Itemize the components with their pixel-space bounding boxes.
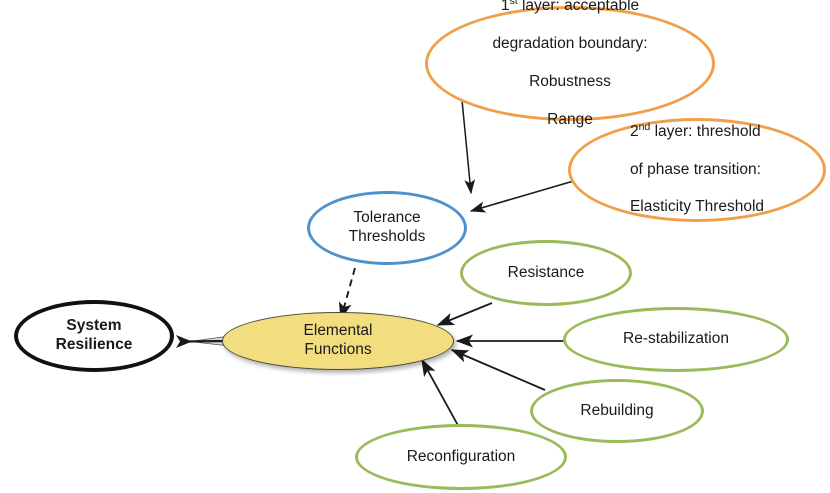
- diagram-canvas: Elemental Functions --> 1st layer: accep…: [0, 0, 830, 493]
- node-second-layer[interactable]: 2nd layer: threshold of phase transition…: [568, 118, 826, 222]
- node-rebuilding[interactable]: Rebuilding: [530, 379, 704, 443]
- second-layer-ordinal-suffix: nd: [639, 121, 651, 133]
- first-layer-line3: Robustness: [529, 73, 611, 90]
- first-layer-line1-rest: layer: acceptable: [518, 0, 640, 14]
- edge-layer1-to-tolerance: [462, 100, 471, 193]
- first-layer-line2: degradation boundary:: [492, 35, 647, 52]
- second-layer-line1-prefix: 2: [630, 123, 639, 140]
- node-tolerance-thresholds[interactable]: Tolerance Thresholds: [307, 191, 467, 265]
- node-rebuilding-label: Rebuilding: [574, 402, 659, 421]
- edge-resistance-to-elemental: [438, 303, 492, 325]
- node-resistance[interactable]: Resistance: [460, 240, 632, 306]
- node-elemental-functions-label: Elemental Functions: [298, 322, 379, 360]
- edge-tolerance-to-elemental: [341, 268, 355, 318]
- node-system-resilience[interactable]: System Resilience: [14, 300, 174, 372]
- first-layer-ordinal-suffix: st: [509, 0, 517, 7]
- node-reconfiguration[interactable]: Reconfiguration: [355, 424, 567, 490]
- node-first-layer[interactable]: 1st layer: acceptable degradation bounda…: [425, 6, 715, 121]
- node-re-stabilization-label: Re-stabilization: [617, 330, 735, 349]
- second-layer-line2: of phase transition:: [630, 161, 761, 178]
- edge-layer2-to-tolerance: [471, 180, 577, 211]
- edge-reconfiguration-to-elemental: [422, 360, 460, 429]
- node-second-layer-label: 2nd layer: threshold of phase transition…: [624, 123, 770, 218]
- node-system-resilience-label: System Resilience: [50, 317, 139, 355]
- node-re-stabilization[interactable]: Re-stabilization: [563, 307, 789, 372]
- node-reconfiguration-label: Reconfiguration: [401, 448, 522, 467]
- node-elemental-functions[interactable]: Elemental Functions: [222, 312, 454, 370]
- edge-rebuilding-to-elemental: [452, 350, 545, 390]
- node-resistance-label: Resistance: [502, 264, 591, 283]
- node-first-layer-label: 1st layer: acceptable degradation bounda…: [486, 0, 653, 130]
- first-layer-line4: Range: [547, 111, 593, 128]
- node-tolerance-thresholds-label: Tolerance Thresholds: [343, 209, 432, 247]
- second-layer-line3: Elasticity Threshold: [630, 198, 764, 215]
- second-layer-line1-rest: layer: threshold: [650, 123, 760, 140]
